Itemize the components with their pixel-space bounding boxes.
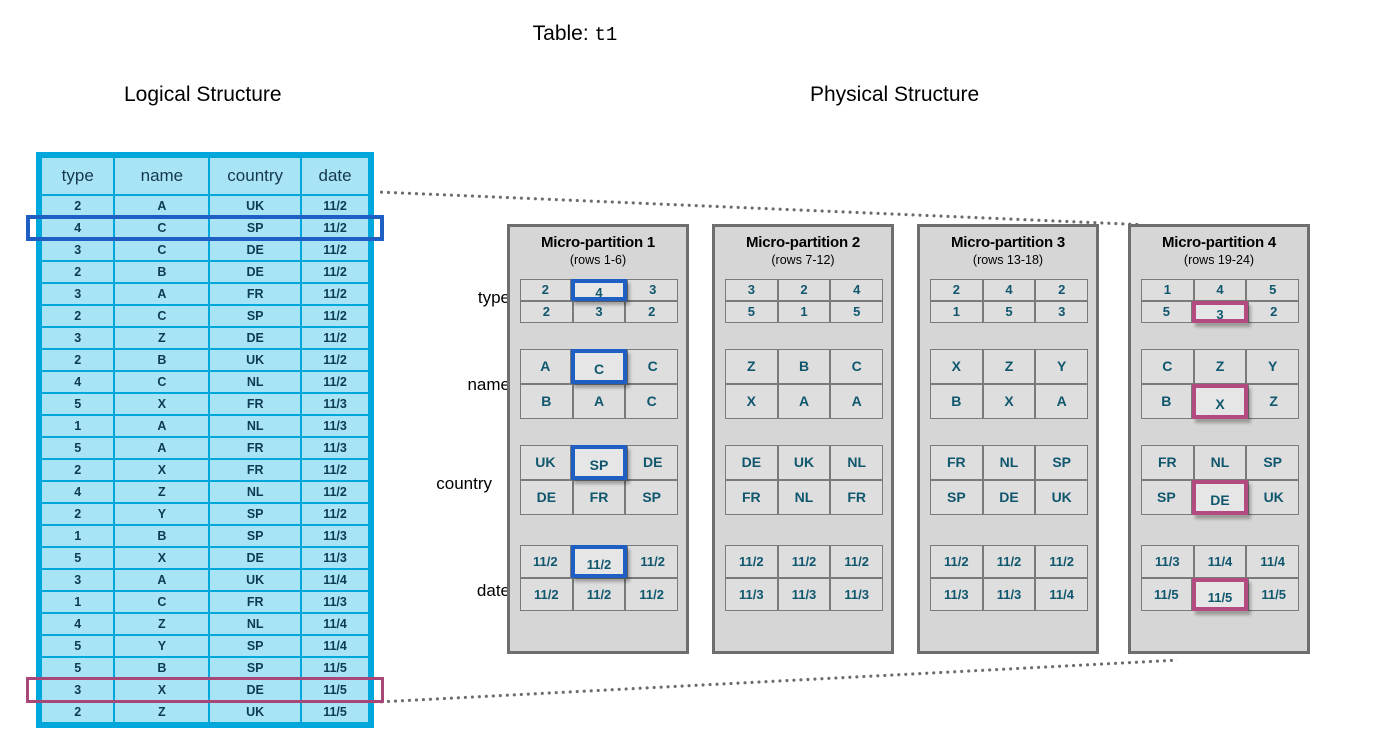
table-cell-date: 11/2 (302, 218, 368, 238)
partition-column-country: FRNLSPSPDEUK (1141, 445, 1299, 515)
partition-cell-row: FRNLFR (725, 480, 883, 515)
table-cell-type: 2 (42, 702, 113, 722)
partition-cell-type: 2 (625, 301, 678, 323)
partition-cell-name: C (1141, 349, 1194, 384)
partition-cell-row: 145 (1141, 279, 1299, 301)
partition-column-type: 242153 (930, 279, 1088, 323)
connector-line-bottom (378, 658, 1177, 704)
partition-cell-row: DEUKNL (725, 445, 883, 480)
partition-cell-date: 11/2 (625, 578, 678, 611)
table-cell-name: Y (115, 636, 208, 656)
partition-cell-country: SP (1246, 445, 1299, 480)
partition-cell-name: X (1192, 384, 1249, 419)
table-cell-name: C (115, 592, 208, 612)
partition-cell-type: 2 (1248, 301, 1299, 323)
table-cell-date: 11/2 (302, 372, 368, 392)
table-cell-date: 11/2 (302, 504, 368, 524)
partition-cell-row: FRNLSP (930, 445, 1088, 480)
partition-cell-row: BXA (930, 384, 1088, 419)
partition-cell-row: 11/211/211/2 (725, 545, 883, 578)
table-title-prefix: Table: (533, 22, 589, 45)
table-cell-date: 11/2 (302, 196, 368, 216)
table-cell-country: NL (210, 416, 300, 436)
partition-cell-country: SP (625, 480, 678, 515)
partition-column-date: 11/311/411/411/511/511/5 (1141, 545, 1299, 611)
table-cell-name: X (115, 460, 208, 480)
table-row: 2AUK11/2 (42, 196, 368, 216)
table-cell-date: 11/5 (302, 680, 368, 700)
partition-cell-type: 2 (1035, 279, 1088, 301)
partition-cell-type: 1 (778, 301, 831, 323)
table-row: 3ZDE11/2 (42, 328, 368, 348)
partition-column-date: 11/211/211/211/211/211/2 (520, 545, 678, 611)
table-row: 2BUK11/2 (42, 350, 368, 370)
table-cell-type: 2 (42, 262, 113, 282)
table-cell-country: NL (210, 482, 300, 502)
table-column-header-type: type (42, 158, 113, 194)
partition-cell-type: 4 (983, 279, 1036, 301)
table-row: 2CSP11/2 (42, 306, 368, 326)
partition-cell-name: C (830, 349, 883, 384)
partition-cell-country: FR (830, 480, 883, 515)
table-cell-date: 11/5 (302, 702, 368, 722)
partition-cell-name: A (778, 384, 831, 419)
partition-cell-date: 11/4 (1246, 545, 1299, 578)
table-column-header-country: country (210, 158, 300, 194)
table-cell-date: 11/2 (302, 306, 368, 326)
table-cell-date: 11/5 (302, 658, 368, 678)
partition-cell-row: 232 (520, 301, 678, 323)
partition-cell-name: A (573, 384, 626, 419)
micro-partition-3: Micro-partition 3(rows 13-18)242153XZYBX… (917, 224, 1099, 654)
partition-cell-row: 11/311/311/4 (930, 578, 1088, 611)
partition-cell-row: DEFRSP (520, 480, 678, 515)
partition-cell-country: NL (778, 480, 831, 515)
table-row: 5BSP11/5 (42, 658, 368, 678)
partition-cell-row: 11/511/511/5 (1141, 578, 1299, 611)
partition-cell-country: UK (778, 445, 831, 480)
table-cell-date: 11/2 (302, 460, 368, 480)
partition-cell-type: 3 (1035, 301, 1088, 323)
table-cell-country: DE (210, 262, 300, 282)
partition-cell-row: XZY (930, 349, 1088, 384)
partition-cell-name: A (830, 384, 883, 419)
table-cell-type: 3 (42, 680, 113, 700)
partition-row-label-name: name (438, 375, 510, 395)
partition-cell-row: 324 (725, 279, 883, 301)
partition-cell-name: Y (1035, 349, 1088, 384)
partition-cell-row: 11/311/311/3 (725, 578, 883, 611)
table-cell-type: 1 (42, 592, 113, 612)
table-cell-type: 4 (42, 218, 113, 238)
table-row: 3XDE11/5 (42, 680, 368, 700)
table-cell-name: B (115, 350, 208, 370)
table-cell-name: Z (115, 614, 208, 634)
table-cell-type: 4 (42, 372, 113, 392)
partition-cell-date: 11/4 (1194, 545, 1247, 578)
partition-cell-country: UK (1035, 480, 1088, 515)
table-cell-country: FR (210, 284, 300, 304)
table-cell-date: 11/4 (302, 636, 368, 656)
partition-cell-date: 11/5 (1192, 578, 1249, 611)
partition-cell-date: 11/2 (1035, 545, 1088, 578)
partition-cell-type: 4 (1194, 279, 1247, 301)
table-row: 2YSP11/2 (42, 504, 368, 524)
partition-cell-name: Z (1194, 349, 1247, 384)
table-row: 4CNL11/2 (42, 372, 368, 392)
partition-cell-country: NL (830, 445, 883, 480)
table-row: 2ZUK11/5 (42, 702, 368, 722)
partition-cell-name: B (778, 349, 831, 384)
table-cell-type: 3 (42, 284, 113, 304)
partition-cell-type: 5 (1141, 301, 1192, 323)
table-cell-type: 2 (42, 350, 113, 370)
micro-partition-title: Micro-partition 2 (715, 234, 891, 251)
partition-cell-date: 11/2 (778, 545, 831, 578)
table-cell-type: 4 (42, 614, 113, 634)
table-cell-country: SP (210, 306, 300, 326)
micro-partition-title: Micro-partition 4 (1131, 234, 1307, 251)
table-cell-country: DE (210, 548, 300, 568)
partition-cell-date: 11/2 (983, 545, 1036, 578)
table-cell-country: NL (210, 372, 300, 392)
table-cell-country: FR (210, 592, 300, 612)
micro-partition-2: Micro-partition 2(rows 7-12)324515ZBCXAA… (712, 224, 894, 654)
table-cell-date: 11/2 (302, 284, 368, 304)
partition-column-date: 11/211/211/211/311/311/4 (930, 545, 1088, 611)
partition-cell-name: Y (1246, 349, 1299, 384)
table-cell-country: FR (210, 460, 300, 480)
partition-cell-country: UK (1248, 480, 1299, 515)
table-cell-type: 5 (42, 636, 113, 656)
table-row: 5YSP11/4 (42, 636, 368, 656)
table-cell-name: Z (115, 328, 208, 348)
partition-cell-country: UK (520, 445, 571, 480)
partition-cell-row: BAC (520, 384, 678, 419)
partition-cell-row: UKSPDE (520, 445, 678, 480)
logical-structure-heading: Logical Structure (124, 83, 282, 107)
table-cell-date: 11/2 (302, 350, 368, 370)
partition-cell-date: 11/2 (573, 578, 626, 611)
physical-structure-heading: Physical Structure (810, 83, 979, 107)
micro-partition-title: Micro-partition 3 (920, 234, 1096, 251)
table-cell-type: 5 (42, 548, 113, 568)
partition-cell-row: 11/211/211/2 (520, 545, 678, 578)
micro-partition-4: Micro-partition 4(rows 19-24)145532CZYBX… (1128, 224, 1310, 654)
partition-cell-type: 3 (627, 279, 678, 301)
table-row: 5XDE11/3 (42, 548, 368, 568)
table-cell-country: UK (210, 702, 300, 722)
table-cell-type: 3 (42, 240, 113, 260)
partition-cell-row: CZY (1141, 349, 1299, 384)
table-cell-date: 11/3 (302, 416, 368, 436)
table-cell-name: B (115, 526, 208, 546)
partition-cell-date: 11/2 (627, 545, 678, 578)
partition-cell-row: 11/211/211/2 (520, 578, 678, 611)
partition-cell-row: XAA (725, 384, 883, 419)
partition-cell-type: 3 (725, 279, 778, 301)
partition-cell-date: 11/2 (571, 545, 628, 578)
table-cell-name: Y (115, 504, 208, 524)
partition-row-label-country: country (420, 474, 492, 494)
table-cell-name: X (115, 680, 208, 700)
table-cell-date: 11/4 (302, 614, 368, 634)
partition-column-country: FRNLSPSPDEUK (930, 445, 1088, 515)
table-cell-type: 1 (42, 526, 113, 546)
table-row: 1BSP11/3 (42, 526, 368, 546)
partition-cell-row: 11/211/211/2 (930, 545, 1088, 578)
table-cell-country: DE (210, 328, 300, 348)
table-cell-date: 11/2 (302, 482, 368, 502)
partition-cell-country: FR (1141, 445, 1194, 480)
partition-column-date: 11/211/211/211/311/311/3 (725, 545, 883, 611)
table-cell-type: 4 (42, 482, 113, 502)
table-cell-date: 11/3 (302, 526, 368, 546)
table-cell-name: A (115, 284, 208, 304)
table-row: 1ANL11/3 (42, 416, 368, 436)
partition-cell-date: 11/3 (983, 578, 1036, 611)
partition-cell-country: FR (725, 480, 778, 515)
partition-cell-row: ZBC (725, 349, 883, 384)
partition-cell-date: 11/2 (725, 545, 778, 578)
partition-cell-type: 2 (778, 279, 831, 301)
partition-column-country: DEUKNLFRNLFR (725, 445, 883, 515)
table-cell-country: UK (210, 350, 300, 370)
micro-partition-title: Micro-partition 1 (510, 234, 686, 251)
table-cell-type: 2 (42, 504, 113, 524)
table-cell-name: C (115, 218, 208, 238)
partition-cell-name: C (627, 349, 678, 384)
partition-cell-row: SPDEUK (1141, 480, 1299, 515)
table-cell-date: 11/2 (302, 328, 368, 348)
partition-cell-country: NL (1194, 445, 1247, 480)
table-cell-name: C (115, 306, 208, 326)
table-cell-date: 11/3 (302, 592, 368, 612)
table-column-header-name: name (115, 158, 208, 194)
table-cell-country: UK (210, 196, 300, 216)
partition-cell-row: 515 (725, 301, 883, 323)
table-row: 2BDE11/2 (42, 262, 368, 282)
partition-cell-date: 11/3 (830, 578, 883, 611)
table-cell-name: B (115, 262, 208, 282)
partition-cell-date: 11/2 (830, 545, 883, 578)
table-cell-name: C (115, 372, 208, 392)
partition-cell-country: NL (983, 445, 1036, 480)
partition-cell-date: 11/2 (520, 545, 571, 578)
partition-cell-type: 5 (725, 301, 778, 323)
table-row: 1CFR11/3 (42, 592, 368, 612)
partition-cell-type: 1 (930, 301, 983, 323)
partition-cell-type: 4 (571, 279, 628, 301)
table-row: 4CSP11/2 (42, 218, 368, 238)
partition-column-country: UKSPDEDEFRSP (520, 445, 678, 515)
partition-column-type: 324515 (725, 279, 883, 323)
partition-cell-row: 532 (1141, 301, 1299, 323)
table-cell-type: 2 (42, 460, 113, 480)
partition-cell-country: SP (930, 480, 983, 515)
partition-cell-date: 11/5 (1141, 578, 1192, 611)
partition-cell-type: 3 (573, 301, 626, 323)
partition-cell-name: B (1141, 384, 1192, 419)
partition-cell-row: ACC (520, 349, 678, 384)
partition-cell-name: A (520, 349, 571, 384)
partition-column-name: XZYBXA (930, 349, 1088, 419)
partition-cell-row: SPDEUK (930, 480, 1088, 515)
partition-cell-country: SP (1141, 480, 1192, 515)
table-cell-country: FR (210, 438, 300, 458)
table-row: 3AFR11/2 (42, 284, 368, 304)
table-cell-type: 5 (42, 658, 113, 678)
partition-cell-row: 153 (930, 301, 1088, 323)
table-cell-name: X (115, 394, 208, 414)
partition-cell-country: SP (1035, 445, 1088, 480)
partition-cell-date: 11/3 (1141, 545, 1194, 578)
table-cell-date: 11/2 (302, 262, 368, 282)
partition-cell-name: C (571, 349, 628, 384)
partition-cell-name: A (1035, 384, 1088, 419)
partition-cell-type: 5 (1246, 279, 1299, 301)
table-cell-type: 3 (42, 570, 113, 590)
table-cell-country: SP (210, 526, 300, 546)
micro-partition-subtitle: (rows 7-12) (715, 253, 891, 267)
logical-structure-table: typenamecountrydate 2AUK11/24CSP11/23CDE… (36, 152, 374, 728)
table-cell-date: 11/3 (302, 548, 368, 568)
table-row: 4ZNL11/2 (42, 482, 368, 502)
table-cell-country: SP (210, 504, 300, 524)
partition-cell-type: 2 (520, 279, 571, 301)
partition-cell-country: FR (573, 480, 626, 515)
table-cell-name: Z (115, 702, 208, 722)
connector-line-top (378, 190, 1142, 227)
table-cell-type: 2 (42, 306, 113, 326)
table-row: 2XFR11/2 (42, 460, 368, 480)
partition-cell-row: 242 (930, 279, 1088, 301)
partition-column-name: ACCBAC (520, 349, 678, 419)
table-cell-country: SP (210, 218, 300, 238)
partition-cell-name: X (930, 349, 983, 384)
page-title: Table: t1 (0, 22, 1150, 46)
partition-cell-country: SP (571, 445, 628, 480)
table-cell-type: 5 (42, 394, 113, 414)
partition-cell-name: Z (725, 349, 778, 384)
partition-cell-name: B (520, 384, 573, 419)
table-cell-name: A (115, 416, 208, 436)
partition-cell-type: 1 (1141, 279, 1194, 301)
partition-cell-type: 2 (520, 301, 573, 323)
table-cell-name: A (115, 570, 208, 590)
micro-partition-1: Micro-partition 1(rows 1-6)243232ACCBACU… (507, 224, 689, 654)
table-cell-type: 2 (42, 196, 113, 216)
table-row: 5AFR11/3 (42, 438, 368, 458)
partition-cell-date: 11/5 (1248, 578, 1299, 611)
table-cell-type: 1 (42, 416, 113, 436)
micro-partition-subtitle: (rows 19-24) (1131, 253, 1307, 267)
partition-cell-date: 11/2 (520, 578, 573, 611)
table-cell-date: 11/4 (302, 570, 368, 590)
table-cell-country: SP (210, 658, 300, 678)
table-cell-country: NL (210, 614, 300, 634)
partition-cell-date: 11/3 (725, 578, 778, 611)
table-cell-type: 5 (42, 438, 113, 458)
table-header-row: typenamecountrydate (42, 158, 368, 194)
table-row: 5XFR11/3 (42, 394, 368, 414)
table-cell-type: 3 (42, 328, 113, 348)
partition-cell-type: 5 (830, 301, 883, 323)
table-cell-country: FR (210, 394, 300, 414)
partition-column-name: ZBCXAA (725, 349, 883, 419)
partition-cell-country: DE (725, 445, 778, 480)
partition-cell-type: 2 (930, 279, 983, 301)
partition-cell-name: Z (1248, 384, 1299, 419)
partition-cell-country: FR (930, 445, 983, 480)
micro-partition-subtitle: (rows 1-6) (510, 253, 686, 267)
table-row: 3CDE11/2 (42, 240, 368, 260)
partition-cell-date: 11/4 (1035, 578, 1088, 611)
table-cell-name: B (115, 658, 208, 678)
partition-cell-type: 4 (830, 279, 883, 301)
partition-cell-date: 11/2 (930, 545, 983, 578)
partition-column-type: 243232 (520, 279, 678, 323)
table-cell-date: 11/3 (302, 394, 368, 414)
partition-cell-row: BXZ (1141, 384, 1299, 419)
partition-cell-type: 5 (983, 301, 1036, 323)
table-cell-date: 11/2 (302, 240, 368, 260)
partition-cell-name: C (625, 384, 678, 419)
partition-cell-type: 3 (1192, 301, 1249, 323)
partition-cell-row: 11/311/411/4 (1141, 545, 1299, 578)
partition-cell-name: X (725, 384, 778, 419)
partition-cell-date: 11/3 (930, 578, 983, 611)
partition-cell-name: X (983, 384, 1036, 419)
partition-cell-country: DE (627, 445, 678, 480)
table-cell-name: A (115, 438, 208, 458)
partition-cell-name: B (930, 384, 983, 419)
table-cell-name: Z (115, 482, 208, 502)
partition-cell-country: DE (1192, 480, 1249, 515)
table-cell-date: 11/3 (302, 438, 368, 458)
table-cell-name: A (115, 196, 208, 216)
table-row: 4ZNL11/4 (42, 614, 368, 634)
partition-row-label-date: date (438, 581, 510, 601)
table-row: 3AUK11/4 (42, 570, 368, 590)
partition-cell-country: DE (520, 480, 573, 515)
table-cell-country: DE (210, 680, 300, 700)
partition-cell-row: 243 (520, 279, 678, 301)
logical-table-element: typenamecountrydate 2AUK11/24CSP11/23CDE… (40, 156, 370, 724)
table-cell-country: DE (210, 240, 300, 260)
partition-column-name: CZYBXZ (1141, 349, 1299, 419)
table-name: t1 (595, 24, 618, 46)
table-cell-name: C (115, 240, 208, 260)
partition-column-type: 145532 (1141, 279, 1299, 323)
partition-cell-date: 11/3 (778, 578, 831, 611)
table-cell-name: X (115, 548, 208, 568)
partition-row-label-type: type (438, 288, 510, 308)
partition-cell-row: FRNLSP (1141, 445, 1299, 480)
table-column-header-date: date (302, 158, 368, 194)
partition-cell-name: Z (983, 349, 1036, 384)
partition-cell-country: DE (983, 480, 1036, 515)
table-cell-country: SP (210, 636, 300, 656)
table-cell-country: UK (210, 570, 300, 590)
micro-partition-subtitle: (rows 13-18) (920, 253, 1096, 267)
